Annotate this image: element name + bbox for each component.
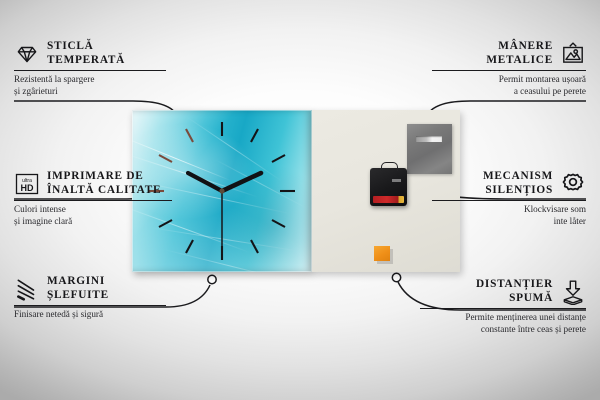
feature-title: DISTANȚIER SPUMĂ: [476, 278, 553, 305]
foam-spacer-pad: [374, 246, 390, 261]
feature-head: MECANISM SILENȚIOS: [432, 170, 586, 197]
feature-metal-handles: MÂNERE METALICE Permit montarea ușoară a…: [432, 40, 586, 97]
gear-icon: [560, 171, 586, 197]
feature-subtitle: Culori intense și imagine clară: [14, 204, 172, 227]
feature-title: MÂNERE METALICE: [486, 40, 553, 67]
press-down-icon: [560, 279, 586, 305]
picture-hanger-icon: [560, 41, 586, 67]
feature-silent-mechanism: MECANISM SILENȚIOS Klockvisare som inte …: [432, 170, 586, 227]
feature-head: ultra HD IMPRIMARE DE ÎNALTĂ CALITATE: [14, 170, 172, 197]
feature-tempered-glass: STICLĂ TEMPERATĂ Rezistentă la spargere …: [14, 40, 166, 97]
feature-head: STICLĂ TEMPERATĂ: [14, 40, 166, 67]
mechanism-label: [392, 179, 401, 182]
feature-subtitle: Klockvisare som inte låter: [432, 204, 586, 227]
feature-subtitle: Rezistentă la spargere și zgârieturi: [14, 74, 166, 97]
polished-edges-icon: [14, 276, 40, 302]
feature-head: MÂNERE METALICE: [432, 40, 586, 67]
diamond-icon: [14, 41, 40, 67]
infographic-canvas: STICLĂ TEMPERATĂ Rezistentă la spargere …: [0, 0, 600, 400]
hanger-slot: [416, 136, 442, 142]
clock-mechanism: [370, 168, 407, 206]
feature-underline: [432, 70, 586, 71]
feature-head: DISTANȚIER SPUMĂ: [420, 278, 586, 305]
feature-underline: [432, 200, 586, 201]
feature-title: IMPRIMARE DE ÎNALTĂ CALITATE: [47, 170, 161, 197]
connector-endpoint-edges: [208, 275, 216, 283]
feature-head: MARGINI ȘLEFUITE: [14, 275, 166, 302]
feature-underline: [420, 308, 586, 309]
feature-title: MECANISM SILENȚIOS: [483, 170, 553, 197]
svg-text:HD: HD: [21, 183, 34, 193]
metal-hanger-plate: [407, 124, 452, 174]
connector-endpoint-foam: [392, 273, 400, 281]
feature-underline: [14, 200, 172, 201]
mechanism-bail: [381, 162, 398, 171]
feature-underline: [14, 70, 166, 71]
feature-polished-edges: MARGINI ȘLEFUITE Finisare netedă și sigu…: [14, 275, 166, 321]
feature-high-quality-print: ultra HD IMPRIMARE DE ÎNALTĂ CALITATE Cu…: [14, 170, 172, 227]
feature-title: MARGINI ȘLEFUITE: [47, 275, 109, 302]
ultra-hd-icon: ultra HD: [14, 171, 40, 197]
feature-underline: [14, 305, 166, 306]
battery: [373, 196, 404, 203]
feature-subtitle: Permite menținerea unei distanțe constan…: [420, 312, 586, 335]
feature-title: STICLĂ TEMPERATĂ: [47, 40, 125, 67]
feature-subtitle: Permit montarea ușoară a ceasului pe per…: [432, 74, 586, 97]
feature-foam-spacer: DISTANȚIER SPUMĂ Permite menținerea unei…: [420, 278, 586, 335]
feature-subtitle: Finisare netedă și sigură: [14, 309, 166, 320]
